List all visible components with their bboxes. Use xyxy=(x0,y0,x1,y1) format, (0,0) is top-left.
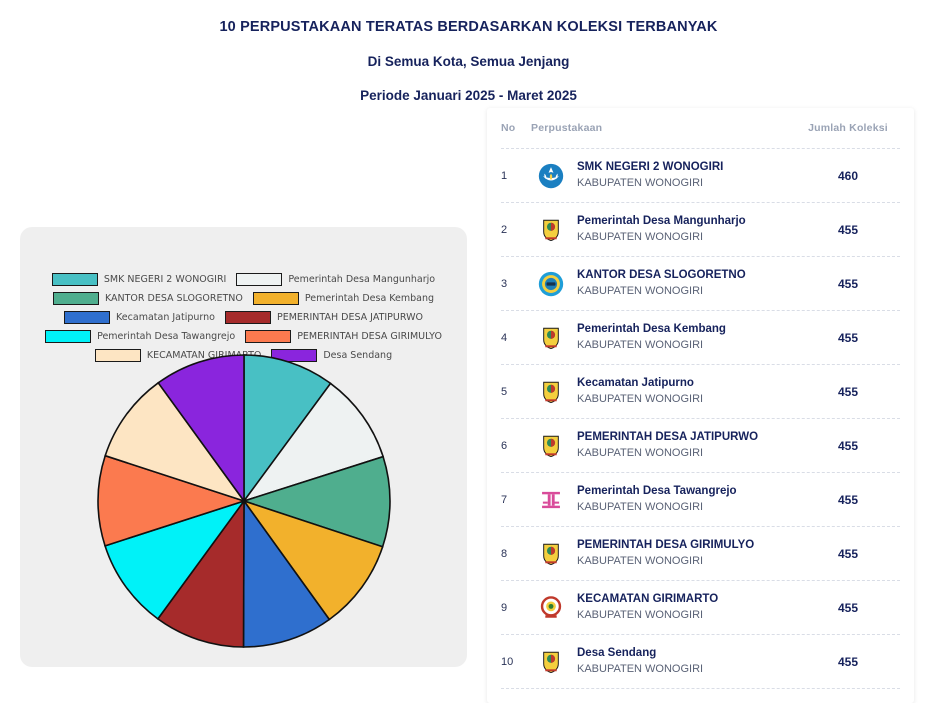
page-subtitle: Di Semua Kota, Semua Jenjang xyxy=(0,53,937,71)
row-rank: 1 xyxy=(501,170,531,182)
table-row[interactable]: 1 SMK NEGERI 2 WONOGIRI KABUPATEN WONOGI… xyxy=(487,149,914,202)
row-library-region: KABUPATEN WONOGIRI xyxy=(577,554,800,569)
legend-label: KANTOR DESA SLOGORETNO xyxy=(105,293,243,304)
pie-chart-card: SMK NEGERI 2 WONOGIRIPemerintah Desa Man… xyxy=(20,227,467,667)
wonogiri-crest-icon xyxy=(531,541,571,567)
chart-legend: SMK NEGERI 2 WONOGIRIPemerintah Desa Man… xyxy=(20,273,467,362)
row-rank: 8 xyxy=(501,548,531,560)
legend-item[interactable]: Pemerintah Desa Mangunharjo xyxy=(236,273,435,286)
wonogiri-crest-icon xyxy=(531,217,571,243)
table-row[interactable]: 4 Pemerintah Desa Kembang KABUPATEN WONO… xyxy=(487,311,914,364)
row-library-cell: Kecamatan Jatipurno KABUPATEN WONOGIRI xyxy=(571,376,800,406)
table-row[interactable]: 3 KANTOR DESA SLOGORETNO KABUPATEN WONOG… xyxy=(487,257,914,310)
legend-label: PEMERINTAH DESA GIRIMULYO xyxy=(297,331,442,342)
row-library-cell: PEMERINTAH DESA JATIPURWO KABUPATEN WONO… xyxy=(571,430,800,460)
row-library-region: KABUPATEN WONOGIRI xyxy=(577,500,800,515)
row-collection-count: 455 xyxy=(800,331,896,345)
row-library-cell: KANTOR DESA SLOGORETNO KABUPATEN WONOGIR… xyxy=(571,268,800,298)
report-header: 10 PERPUSTAKAAN TERATAS BERDASARKAN KOLE… xyxy=(0,0,937,105)
column-header-no: No xyxy=(501,122,531,134)
row-library-cell: PEMERINTAH DESA GIRIMULYO KABUPATEN WONO… xyxy=(571,538,800,568)
legend-swatch-icon xyxy=(225,311,271,324)
row-library-name: Desa Sendang xyxy=(577,646,800,662)
table-header-row: No Perpustakaan Jumlah Koleksi xyxy=(487,108,914,148)
row-library-region: KABUPATEN WONOGIRI xyxy=(577,446,800,461)
page-period: Periode Januari 2025 - Maret 2025 xyxy=(0,87,937,105)
table-row[interactable]: 9 KECAMATAN GIRIMARTO KABUPATEN WONOGIRI… xyxy=(487,581,914,634)
legend-row: Pemerintah Desa TawangrejoPEMERINTAH DES… xyxy=(45,330,442,343)
row-library-name: PEMERINTAH DESA GIRIMULYO xyxy=(577,538,800,554)
table-row[interactable]: 5 Kecamatan Jatipurno KABUPATEN WONOGIRI… xyxy=(487,365,914,418)
legend-label: PEMERINTAH DESA JATIPURWO xyxy=(277,312,423,323)
pie-chart[interactable] xyxy=(94,351,394,651)
table-row[interactable]: 6 PEMERINTAH DESA JATIPURWO KABUPATEN WO… xyxy=(487,419,914,472)
legend-row: KANTOR DESA SLOGORETNOPemerintah Desa Ke… xyxy=(53,292,434,305)
row-divider xyxy=(501,688,900,689)
row-library-cell: Pemerintah Desa Tawangrejo KABUPATEN WON… xyxy=(571,484,800,514)
row-rank: 3 xyxy=(501,278,531,290)
row-rank: 4 xyxy=(501,332,531,344)
legend-item[interactable]: SMK NEGERI 2 WONOGIRI xyxy=(52,273,226,286)
column-header-count: Jumlah Koleksi xyxy=(800,122,896,134)
row-library-region: KABUPATEN WONOGIRI xyxy=(577,284,800,299)
pink-gate-icon xyxy=(531,487,571,513)
legend-item[interactable]: Pemerintah Desa Kembang xyxy=(253,292,434,305)
page-title: 10 PERPUSTAKAAN TERATAS BERDASARKAN KOLE… xyxy=(0,18,937,37)
row-collection-count: 455 xyxy=(800,493,896,507)
legend-label: SMK NEGERI 2 WONOGIRI xyxy=(104,274,226,285)
row-rank: 6 xyxy=(501,440,531,452)
legend-swatch-icon xyxy=(253,292,299,305)
row-library-name: Pemerintah Desa Tawangrejo xyxy=(577,484,800,500)
row-rank: 9 xyxy=(501,602,531,614)
legend-swatch-icon xyxy=(64,311,110,324)
row-library-region: KABUPATEN WONOGIRI xyxy=(577,608,800,623)
legend-label: Pemerintah Desa Tawangrejo xyxy=(97,331,235,342)
row-library-region: KABUPATEN WONOGIRI xyxy=(577,230,800,245)
row-library-name: KANTOR DESA SLOGORETNO xyxy=(577,268,800,284)
slogoretno-seal-icon xyxy=(531,271,571,297)
table-body: 1 SMK NEGERI 2 WONOGIRI KABUPATEN WONOGI… xyxy=(487,148,914,689)
row-library-name: PEMERINTAH DESA JATIPURWO xyxy=(577,430,800,446)
row-library-cell: Pemerintah Desa Kembang KABUPATEN WONOGI… xyxy=(571,322,800,352)
row-library-name: KECAMATAN GIRIMARTO xyxy=(577,592,800,608)
legend-item[interactable]: PEMERINTAH DESA JATIPURWO xyxy=(225,311,423,324)
wonogiri-crest-icon xyxy=(531,379,571,405)
pie-chart-container xyxy=(20,351,467,651)
table-row[interactable]: 2 Pemerintah Desa Mangunharjo KABUPATEN … xyxy=(487,203,914,256)
row-collection-count: 455 xyxy=(800,385,896,399)
row-library-cell: SMK NEGERI 2 WONOGIRI KABUPATEN WONOGIRI xyxy=(571,160,800,190)
table-row[interactable]: 8 PEMERINTAH DESA GIRIMULYO KABUPATEN WO… xyxy=(487,527,914,580)
tutwuri-logo-icon xyxy=(531,163,571,189)
row-collection-count: 455 xyxy=(800,547,896,561)
row-rank: 5 xyxy=(501,386,531,398)
row-collection-count: 460 xyxy=(800,169,896,183)
table-row[interactable]: 10 Desa Sendang KABUPATEN WONOGIRI 455 xyxy=(487,635,914,688)
girimarto-seal-icon xyxy=(531,595,571,621)
legend-swatch-icon xyxy=(53,292,99,305)
row-library-name: Pemerintah Desa Kembang xyxy=(577,322,800,338)
wonogiri-crest-icon xyxy=(531,649,571,675)
row-library-region: KABUPATEN WONOGIRI xyxy=(577,662,800,677)
legend-label: Pemerintah Desa Mangunharjo xyxy=(288,274,435,285)
wonogiri-crest-icon xyxy=(531,325,571,351)
legend-swatch-icon xyxy=(236,273,282,286)
row-rank: 2 xyxy=(501,224,531,236)
legend-label: Pemerintah Desa Kembang xyxy=(305,293,434,304)
top-libraries-table: No Perpustakaan Jumlah Koleksi 1 SMK NEG… xyxy=(487,108,914,703)
row-collection-count: 455 xyxy=(800,439,896,453)
row-library-region: KABUPATEN WONOGIRI xyxy=(577,176,800,191)
row-library-cell: Desa Sendang KABUPATEN WONOGIRI xyxy=(571,646,800,676)
row-rank: 7 xyxy=(501,494,531,506)
legend-item[interactable]: KANTOR DESA SLOGORETNO xyxy=(53,292,243,305)
column-header-name: Perpustakaan xyxy=(531,122,800,134)
row-rank: 10 xyxy=(501,656,531,668)
legend-swatch-icon xyxy=(45,330,91,343)
row-library-region: KABUPATEN WONOGIRI xyxy=(577,392,800,407)
legend-item[interactable]: Pemerintah Desa Tawangrejo xyxy=(45,330,235,343)
row-library-name: Pemerintah Desa Mangunharjo xyxy=(577,214,800,230)
legend-swatch-icon xyxy=(245,330,291,343)
legend-label: Kecamatan Jatipurno xyxy=(116,312,215,323)
table-row[interactable]: 7 Pemerintah Desa Tawangrejo KABUPATEN W… xyxy=(487,473,914,526)
row-library-name: Kecamatan Jatipurno xyxy=(577,376,800,392)
legend-row: Kecamatan JatipurnoPEMERINTAH DESA JATIP… xyxy=(64,311,423,324)
legend-item[interactable]: Kecamatan Jatipurno xyxy=(64,311,215,324)
row-collection-count: 455 xyxy=(800,223,896,237)
row-library-cell: Pemerintah Desa Mangunharjo KABUPATEN WO… xyxy=(571,214,800,244)
row-library-region: KABUPATEN WONOGIRI xyxy=(577,338,800,353)
legend-row: SMK NEGERI 2 WONOGIRIPemerintah Desa Man… xyxy=(52,273,435,286)
row-library-cell: KECAMATAN GIRIMARTO KABUPATEN WONOGIRI xyxy=(571,592,800,622)
legend-swatch-icon xyxy=(52,273,98,286)
row-collection-count: 455 xyxy=(800,655,896,669)
row-collection-count: 455 xyxy=(800,601,896,615)
legend-item[interactable]: PEMERINTAH DESA GIRIMULYO xyxy=(245,330,442,343)
row-library-name: SMK NEGERI 2 WONOGIRI xyxy=(577,160,800,176)
row-collection-count: 455 xyxy=(800,277,896,291)
wonogiri-crest-icon xyxy=(531,433,571,459)
